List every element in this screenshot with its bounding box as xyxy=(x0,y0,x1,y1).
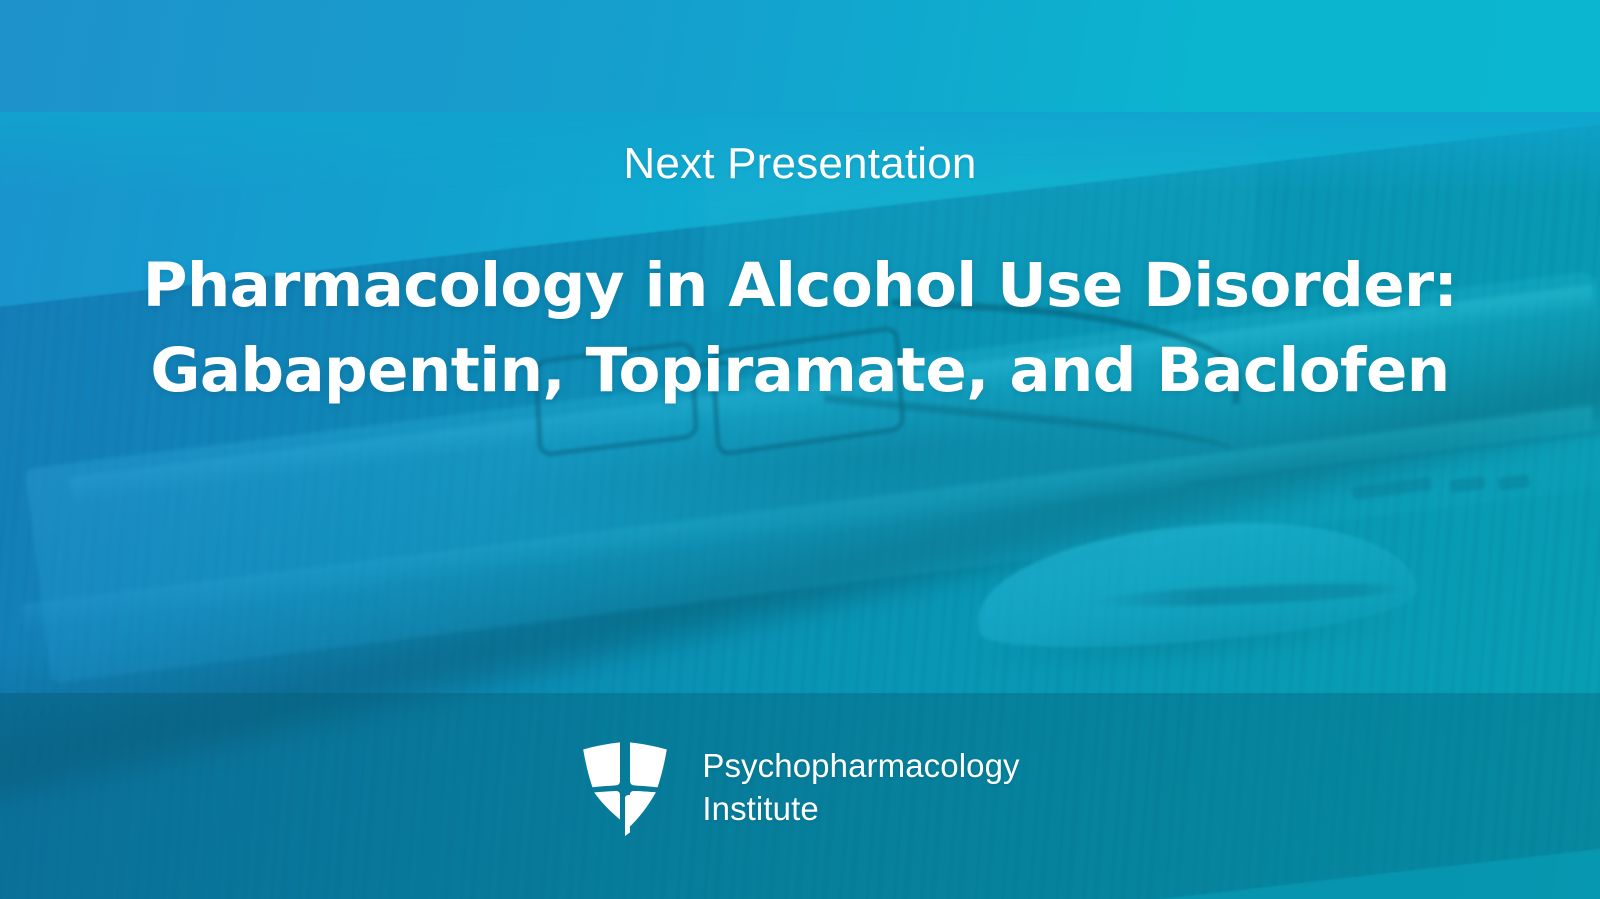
shield-cross-icon xyxy=(580,736,670,840)
brand-lockup: Psychopharmacology Institute xyxy=(580,736,1019,840)
page-title: Pharmacology in Alcohol Use Disorder: Ga… xyxy=(90,243,1510,414)
eyebrow-label: Next Presentation xyxy=(0,140,1600,188)
presentation-slide: Next Presentation Pharmacology in Alcoho… xyxy=(0,0,1600,899)
brand-name: Psychopharmacology Institute xyxy=(702,745,1019,831)
page-title-line-1: Pharmacology in Alcohol Use Disorder: xyxy=(90,243,1510,328)
brand-name-line-2: Institute xyxy=(702,788,1019,831)
brand-name-line-1: Psychopharmacology xyxy=(702,745,1019,788)
page-title-line-2: Gabapentin, Topiramate, and Baclofen xyxy=(90,328,1510,413)
footer-band: Psychopharmacology Institute xyxy=(0,693,1600,899)
